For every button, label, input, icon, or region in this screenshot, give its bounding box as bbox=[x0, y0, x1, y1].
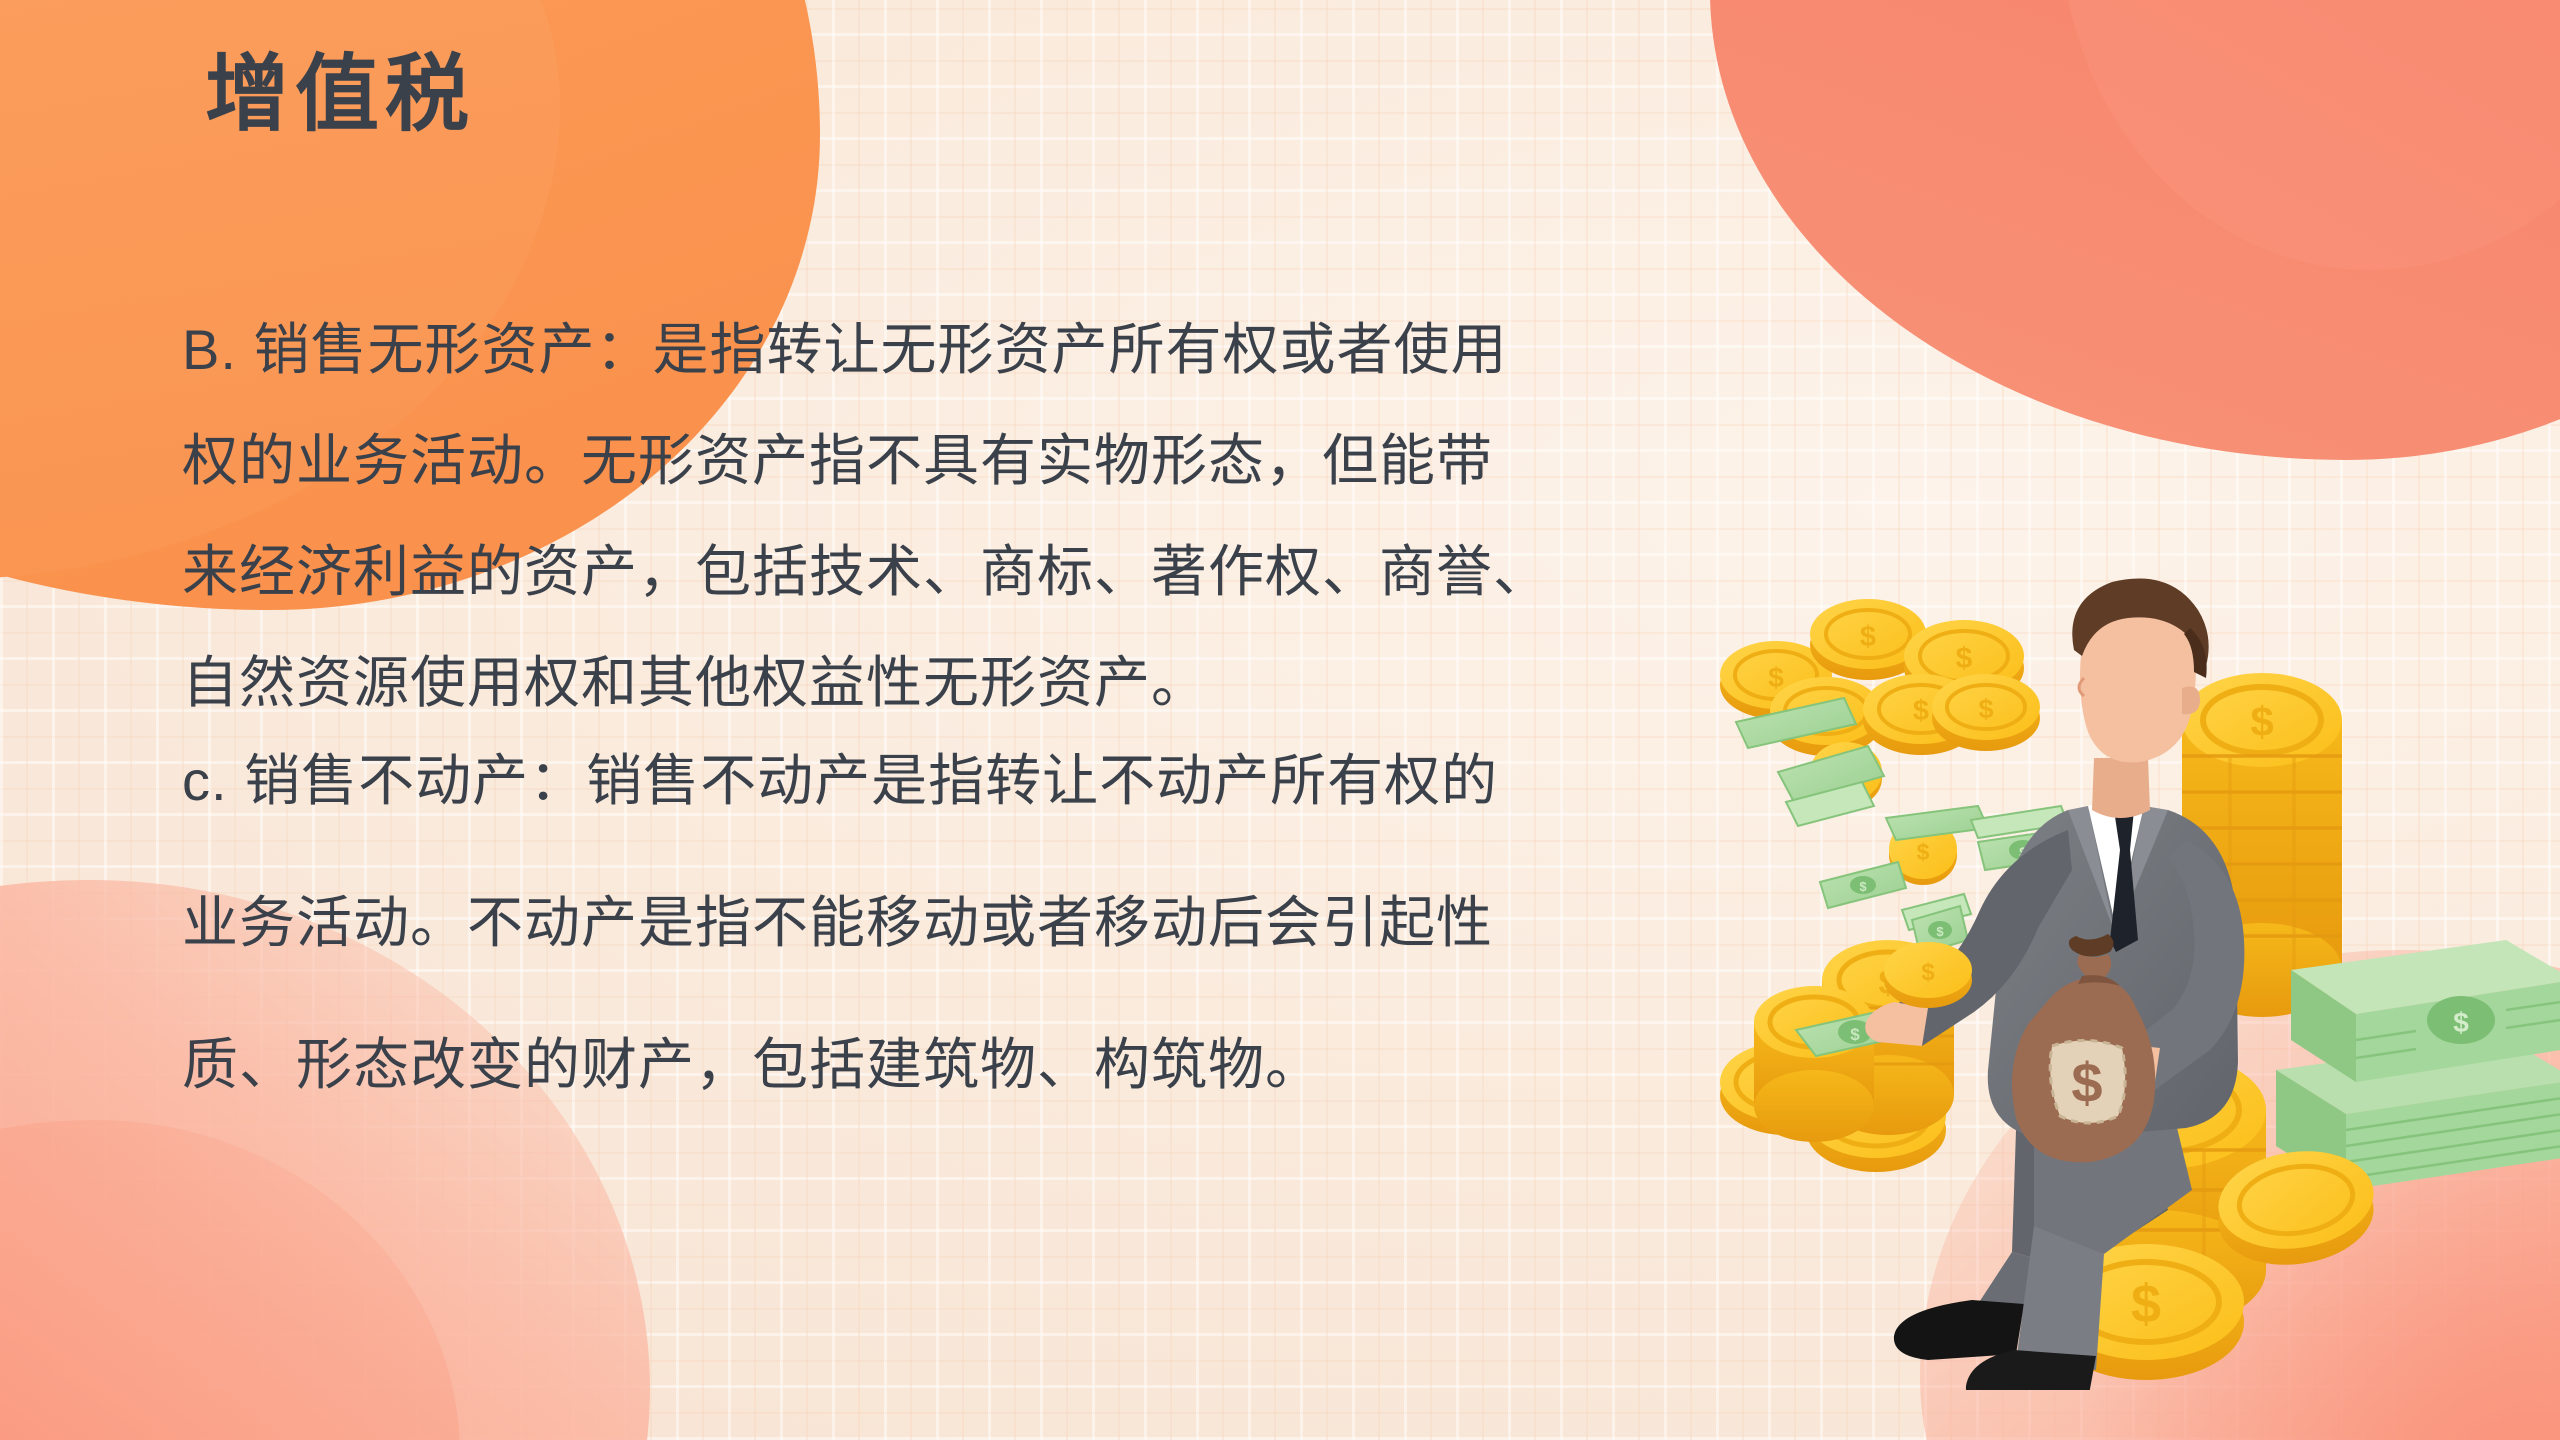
paragraph-b: B. 销售无形资产：是指转让无形资产所有权或者使用 权的业务活动。无形资产指不具… bbox=[182, 322, 1742, 711]
svg-text:$: $ bbox=[1921, 959, 1935, 986]
coins-in-hand: $ bbox=[1884, 942, 1972, 1008]
svg-text:$: $ bbox=[1850, 1025, 1860, 1044]
svg-text:$: $ bbox=[2250, 698, 2273, 745]
svg-text:$: $ bbox=[2453, 1007, 2469, 1038]
paragraph-c-line-2: 业务活动。不动产是指不能移动或者移动后会引起性 bbox=[182, 895, 1742, 951]
paragraph-c: c. 销售不动产：销售不动产是指转让不动产所有权的 业务活动。不动产是指不能移动… bbox=[182, 753, 1742, 1093]
paragraph-b-line-1: B. 销售无形资产：是指转让无形资产所有权或者使用 bbox=[182, 322, 1742, 378]
paragraph-b-line-4: 自然资源使用权和其他权益性无形资产。 bbox=[182, 655, 1742, 711]
svg-text:$: $ bbox=[1936, 924, 1944, 939]
money-illustration: $ $ $ bbox=[1716, 510, 2560, 1390]
paragraph-c-line-3: 质、形态改变的财产，包括建筑物、构筑物。 bbox=[182, 1037, 1742, 1093]
svg-text:$: $ bbox=[1978, 694, 1993, 724]
svg-text:$: $ bbox=[1913, 695, 1929, 727]
paragraph-b-line-3: 来经济利益的资产，包括技术、商标、著作权、商誉、 bbox=[182, 544, 1742, 600]
body-text-block: B. 销售无形资产：是指转让无形资产所有权或者使用 权的业务活动。无形资产指不具… bbox=[182, 322, 1742, 1093]
svg-text:$: $ bbox=[2071, 1051, 2102, 1114]
svg-text:$: $ bbox=[1860, 621, 1876, 653]
slide-canvas: 增值税 B. 销售无形资产：是指转让无形资产所有权或者使用 权的业务活动。无形资… bbox=[0, 0, 2560, 1440]
svg-text:$: $ bbox=[2131, 1274, 2161, 1334]
svg-text:$: $ bbox=[1859, 879, 1867, 894]
paragraph-b-line-2: 权的业务活动。无形资产指不具有实物形态，但能带 bbox=[182, 433, 1742, 489]
paragraph-c-line-1: c. 销售不动产：销售不动产是指转让不动产所有权的 bbox=[182, 753, 1742, 809]
slide-title: 增值税 bbox=[205, 48, 475, 140]
svg-text:$: $ bbox=[1768, 662, 1784, 693]
svg-text:$: $ bbox=[1956, 642, 1973, 675]
svg-text:$: $ bbox=[1917, 839, 1930, 865]
